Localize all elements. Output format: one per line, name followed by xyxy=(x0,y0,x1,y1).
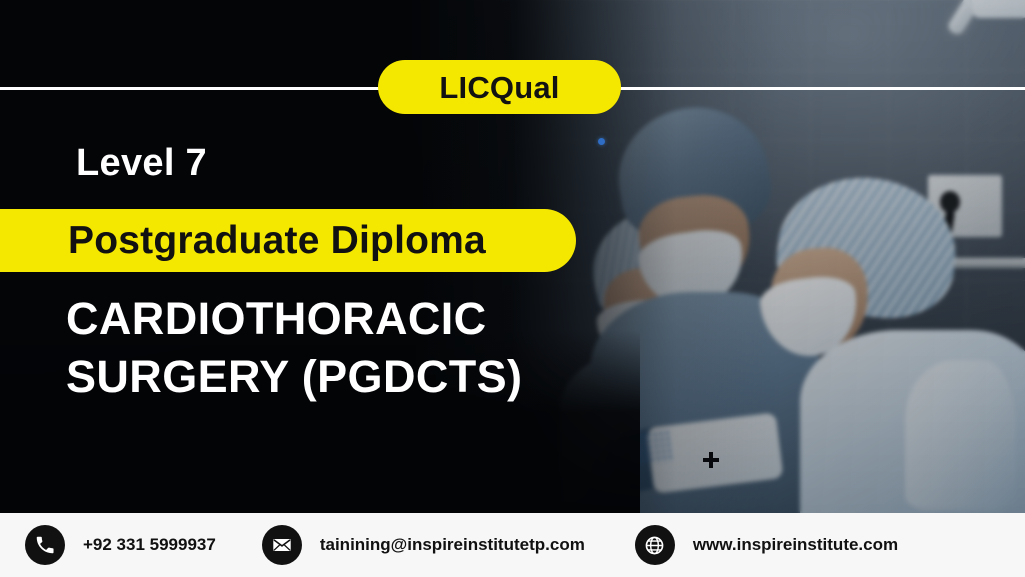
course-title: CARDIOTHORACIC SURGERY (PGDCTS) xyxy=(66,290,686,405)
brand-badge-label: LICQual xyxy=(439,72,559,103)
contact-website-text: www.inspireinstitute.com xyxy=(693,535,898,555)
promo-poster: LICQual Level 7 Postgraduate Diploma CAR… xyxy=(0,0,1025,577)
crosshair-cursor-icon xyxy=(703,452,719,468)
qualification-band: Postgraduate Diploma xyxy=(0,209,576,272)
qualification-band-label: Postgraduate Diploma xyxy=(68,219,486,263)
contact-phone[interactable]: +92 331 5999937 xyxy=(25,525,216,565)
brand-badge: LICQual xyxy=(378,60,621,114)
level-label: Level 7 xyxy=(76,142,207,185)
globe-icon xyxy=(635,525,675,565)
contact-website[interactable]: www.inspireinstitute.com xyxy=(635,525,898,565)
contact-email[interactable]: tainining@inspireinstitutetp.com xyxy=(262,525,585,565)
envelope-icon xyxy=(262,525,302,565)
contact-email-text: tainining@inspireinstitutetp.com xyxy=(320,535,585,555)
phone-icon xyxy=(25,525,65,565)
blue-indicator-dot xyxy=(598,138,605,145)
contact-phone-text: +92 331 5999937 xyxy=(83,535,216,555)
contact-footer-bar: +92 331 5999937 tainining@inspireinstitu… xyxy=(0,513,1025,577)
